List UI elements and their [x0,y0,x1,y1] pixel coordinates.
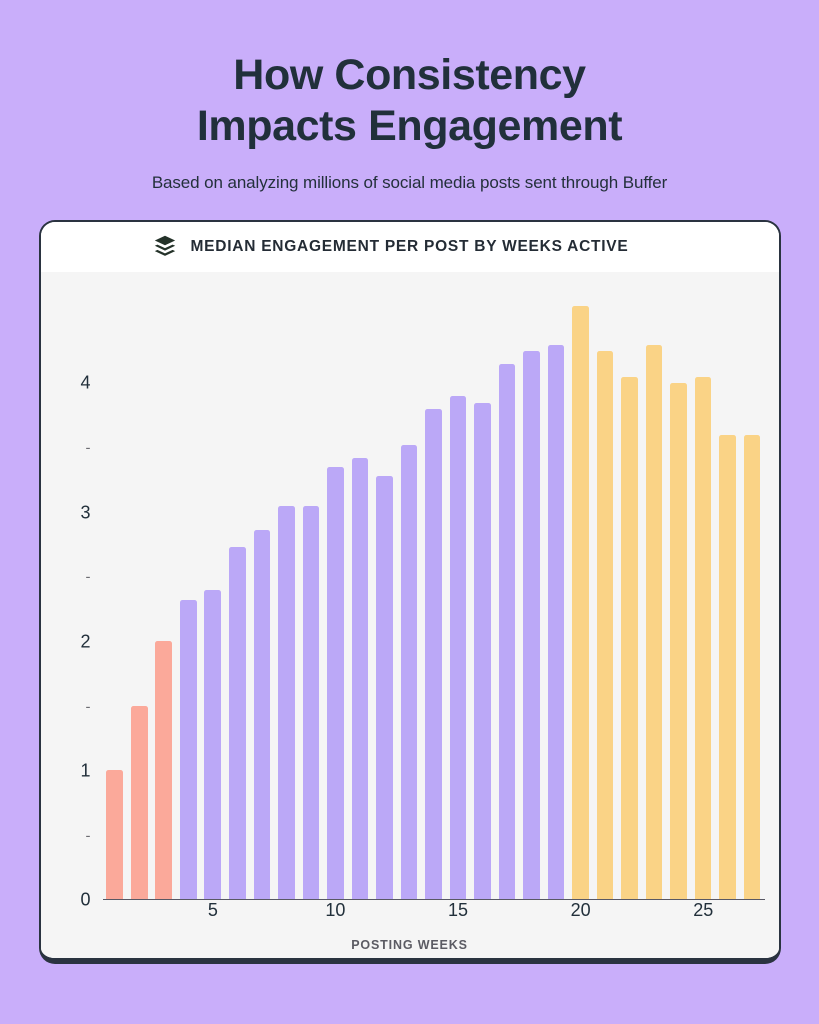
bar-week-9[interactable] [303,506,320,899]
plot-area: 0-1-2-3-4 510152025 POSTING WEEKS [41,272,779,958]
bar-slot [470,286,495,899]
bar-week-20[interactable] [572,306,589,899]
page-subtitle: Based on analyzing millions of social me… [0,173,819,193]
y-tick-1-5: - [86,698,91,715]
x-axis-label: POSTING WEEKS [41,938,779,952]
y-tick-3: 3 [80,502,90,523]
x-tick-5: 5 [208,900,218,921]
page-header: How Consistency Impacts Engagement Based… [0,0,819,193]
bar-slot [642,286,667,899]
bar-slot [617,286,642,899]
buffer-stacked-layers-icon [152,234,178,260]
y-tick-0-5: - [86,827,91,844]
bar-series [103,286,765,899]
bar-slot [103,286,128,899]
bar-week-8[interactable] [278,506,295,899]
bar-week-1[interactable] [106,770,123,899]
bar-week-12[interactable] [376,476,393,899]
bar-slot [397,286,422,899]
y-tick-1: 1 [80,761,90,782]
bar-slot [568,286,593,899]
bar-week-21[interactable] [597,351,614,899]
bar-week-4[interactable] [180,600,197,899]
y-tick-3-5: - [86,440,91,457]
x-tick-20: 20 [571,900,591,921]
bar-week-11[interactable] [352,458,369,899]
bar-slot [421,286,446,899]
chart-card-header: MEDIAN ENGAGEMENT PER POST BY WEEKS ACTI… [41,222,779,272]
bar-slot [446,286,471,899]
bar-slot [691,286,716,899]
x-tick-15: 15 [448,900,468,921]
bar-slot [176,286,201,899]
bar-week-17[interactable] [499,364,516,899]
bar-slot [495,286,520,899]
x-tick-10: 10 [325,900,345,921]
bar-slot [323,286,348,899]
x-axis: 510152025 [103,900,765,930]
bar-week-23[interactable] [646,345,663,899]
bar-week-10[interactable] [327,467,344,899]
bar-week-26[interactable] [719,435,736,899]
bar-slot [152,286,177,899]
y-axis: 0-1-2-3-4 [41,272,103,958]
bar-slot [593,286,618,899]
bar-week-16[interactable] [474,403,491,899]
bar-slot [666,286,691,899]
bar-week-7[interactable] [254,530,271,899]
bar-week-6[interactable] [229,547,246,899]
y-tick-2-5: - [86,569,91,586]
bar-slot [715,286,740,899]
bar-week-14[interactable] [425,409,442,899]
bars-container [103,286,765,900]
bar-week-27[interactable] [744,435,761,899]
bar-week-25[interactable] [695,377,712,899]
y-tick-0: 0 [80,890,90,911]
bar-week-15[interactable] [450,396,467,899]
bar-week-5[interactable] [204,590,221,899]
bar-slot [348,286,373,899]
bar-week-24[interactable] [670,383,687,899]
bar-slot [372,286,397,899]
bar-slot [299,286,324,899]
chart-title: MEDIAN ENGAGEMENT PER POST BY WEEKS ACTI… [191,238,629,256]
bar-slot [250,286,275,899]
bar-slot [740,286,765,899]
bar-slot [274,286,299,899]
bar-week-18[interactable] [523,351,540,899]
y-tick-2: 2 [80,631,90,652]
bar-week-19[interactable] [548,345,565,899]
bar-slot [127,286,152,899]
y-tick-4: 4 [80,373,90,394]
x-tick-25: 25 [693,900,713,921]
bar-slot [544,286,569,899]
bar-week-2[interactable] [131,706,148,899]
bar-slot [519,286,544,899]
bar-week-3[interactable] [155,641,172,899]
bar-slot [201,286,226,899]
chart-card: MEDIAN ENGAGEMENT PER POST BY WEEKS ACTI… [39,220,781,964]
bar-week-13[interactable] [401,445,418,899]
bar-week-22[interactable] [621,377,638,899]
bar-slot [225,286,250,899]
page-title: How Consistency Impacts Engagement [0,50,819,151]
